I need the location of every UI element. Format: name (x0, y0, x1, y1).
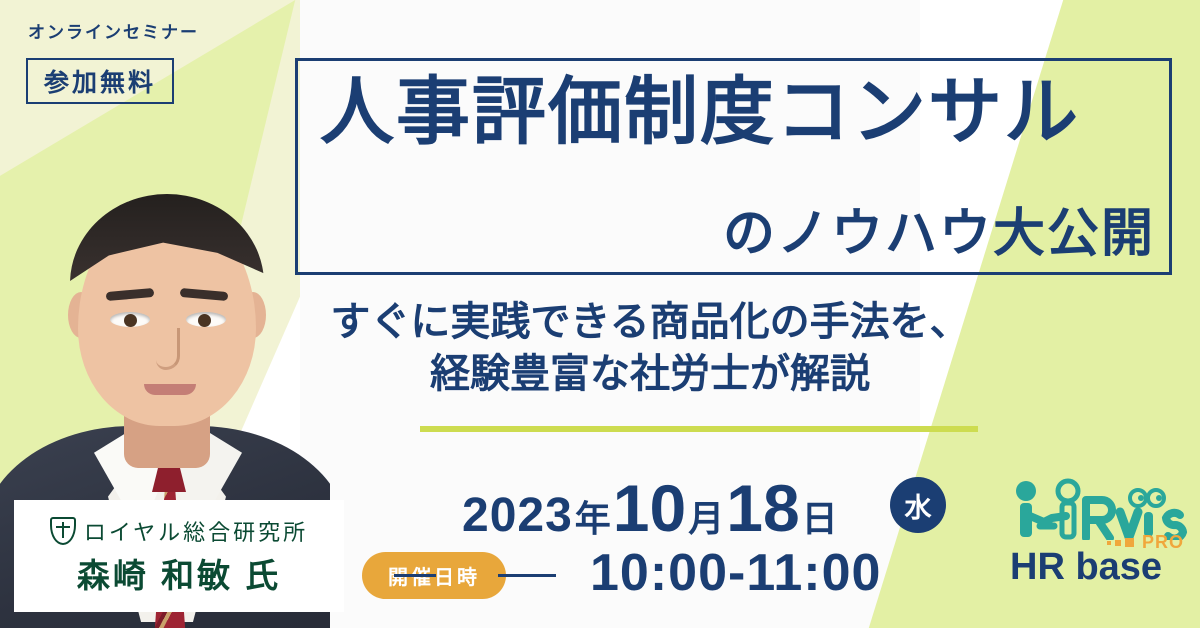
when-line-left (394, 574, 436, 577)
portrait-pupil-left (124, 314, 137, 327)
hrbase-logo-icon: PRO HR base (1010, 548, 1190, 604)
hrbase-dots-decoration (1107, 538, 1134, 547)
event-date: 2023 年 10 月 18 日 (462, 470, 840, 546)
lead-copy-line-1: すぐに実践できる商品化の手法を、 (330, 300, 969, 344)
event-month-unit: 月 (688, 490, 724, 542)
hrvis-handshake-logo-icon (1010, 478, 1190, 540)
event-month: 10 (613, 470, 686, 546)
event-year-unit: 年 (575, 490, 611, 542)
day-of-week-badge: 水 (890, 477, 946, 533)
portrait-mouth (144, 384, 196, 395)
shield-emblem-icon (50, 517, 76, 545)
free-admission-badge: 参加無料 (26, 58, 174, 104)
event-time: 10:00-11:00 (590, 543, 881, 603)
when-label-group: 開催日時 (362, 552, 506, 599)
speaker-org-row: ロイヤル総合研究所 (50, 515, 308, 547)
when-line-right (498, 574, 556, 577)
green-divider (420, 426, 978, 432)
speaker-name: 森崎 和敏 氏 (77, 549, 281, 597)
speaker-organization: ロイヤル総合研究所 (84, 515, 308, 547)
title-box: 人事評価制度コンサル のノウハウ大公開 (295, 58, 1172, 275)
hrbase-wordmark: HR base (1010, 546, 1162, 588)
title-subline: のノウハウ大公開 (723, 208, 1155, 260)
lead-copy-line-2: 経験豊富な社労士が解説 (300, 348, 1000, 400)
event-day: 18 (726, 470, 799, 546)
lead-copy: すぐに実践できる商品化の手法を、 経験豊富な社労士が解説 (300, 296, 1000, 400)
portrait-nose (156, 328, 180, 370)
page-title: 人事評価制度コンサル (320, 75, 1080, 149)
event-year: 2023 (462, 488, 573, 543)
speaker-nameplate: ロイヤル総合研究所 森崎 和敏 氏 (14, 500, 344, 612)
hrbase-pro-label: PRO (1142, 532, 1184, 553)
kicker-label: オンラインセミナー (28, 18, 199, 43)
portrait-pupil-right (198, 314, 211, 327)
seminar-banner: オンラインセミナー 参加無料 人事評価制度コンサル のノウハウ大公開 すぐに実践… (0, 0, 1200, 628)
event-day-unit: 日 (802, 490, 838, 542)
